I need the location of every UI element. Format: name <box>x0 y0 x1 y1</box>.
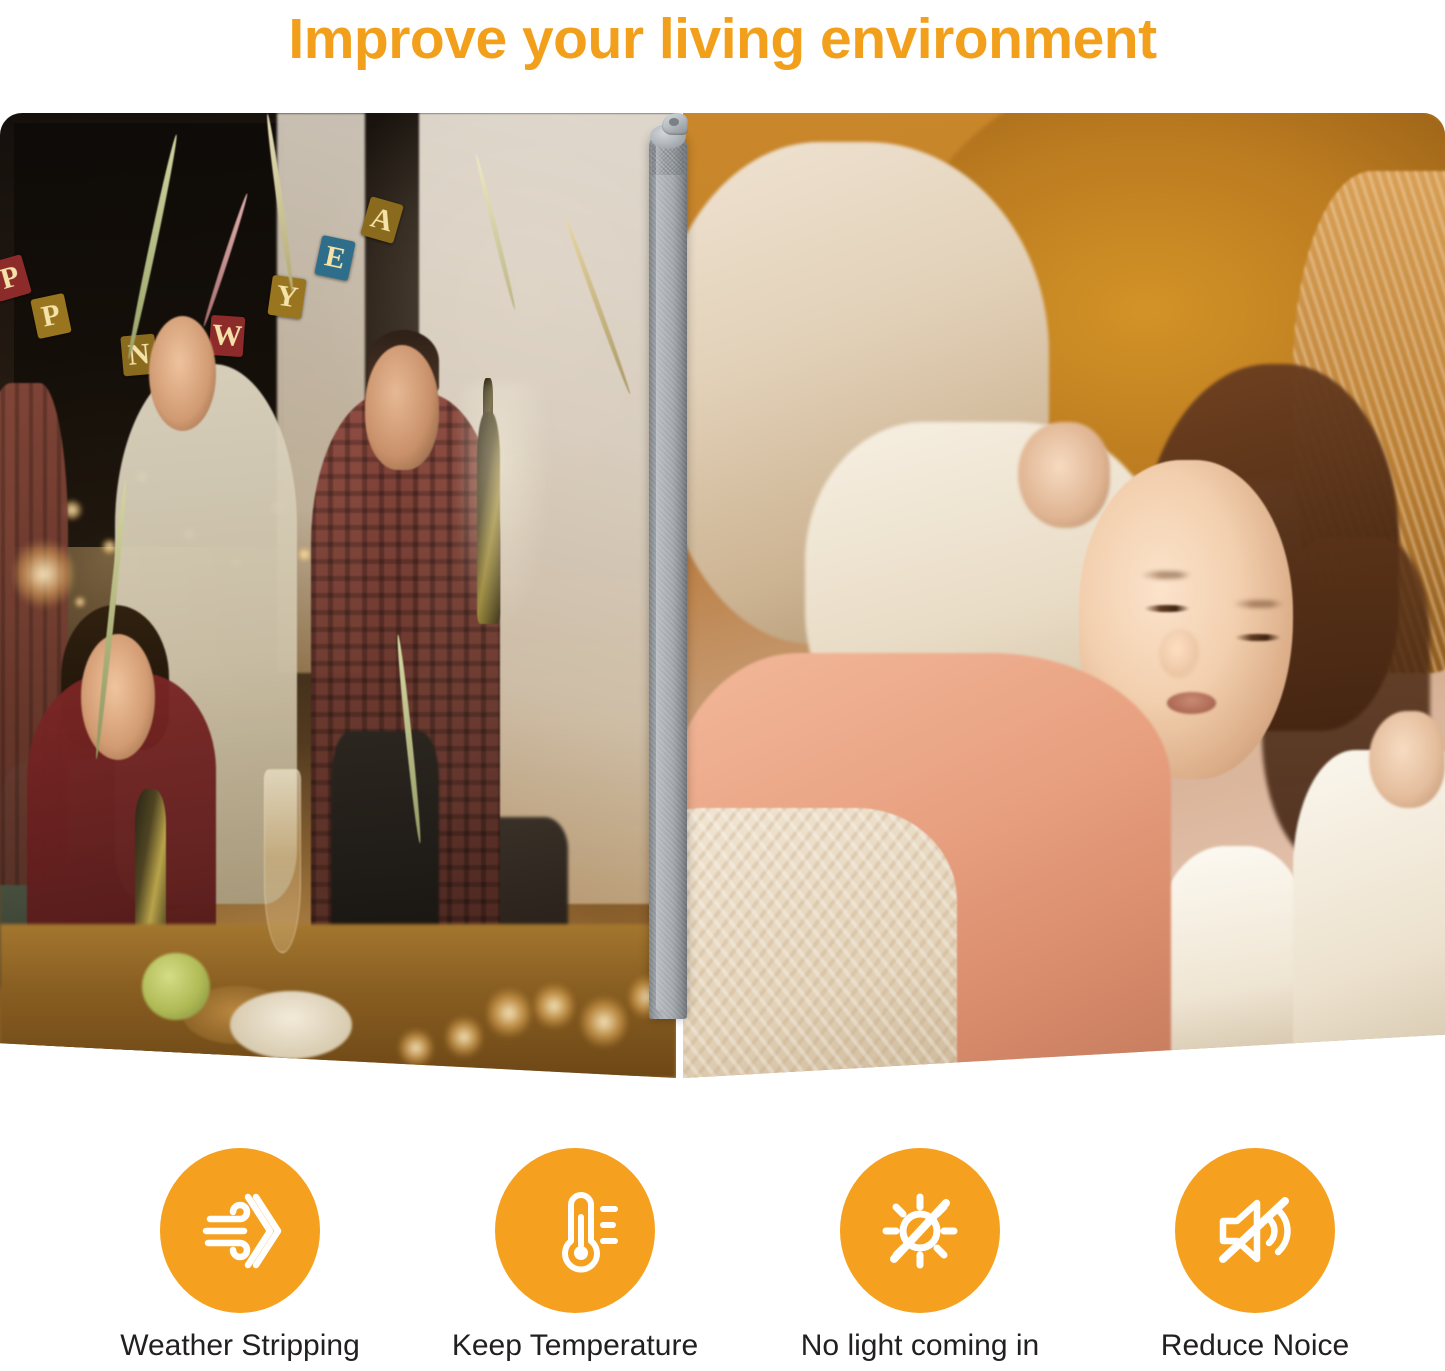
party-person-head <box>365 345 439 470</box>
child-sleeping-photo <box>683 113 1445 1078</box>
product-feature-page: Improve your living environment <box>0 0 1445 1371</box>
feature-list: Weather Stripping Keep Temperature <box>0 1148 1445 1371</box>
feature-reduce-noise: Reduce Noice <box>1130 1148 1380 1363</box>
wind-arrow-icon <box>160 1148 320 1313</box>
candle-glow <box>534 982 574 1030</box>
candle-glow <box>399 1028 433 1068</box>
food-plate <box>230 991 352 1059</box>
hero-split-image: P P N E W Y E A <box>0 113 1445 1083</box>
sun-slash-icon <box>840 1148 1000 1313</box>
child-hand <box>1018 422 1109 528</box>
candle-glow <box>487 987 531 1039</box>
candle-glow <box>446 1015 482 1059</box>
feature-label: Reduce Noice <box>1161 1329 1349 1363</box>
party-person-head <box>81 634 155 759</box>
feature-no-light: No light coming in <box>795 1148 1045 1363</box>
banner-letter: Y <box>268 275 307 319</box>
seal-strip-highlight <box>656 139 664 1011</box>
party-table <box>0 924 676 1078</box>
champagne-spray <box>460 383 636 827</box>
feature-label: Weather Stripping <box>120 1329 360 1363</box>
feature-weather-stripping: Weather Stripping <box>115 1148 365 1363</box>
page-title: Improve your living environment <box>0 0 1445 78</box>
grapes <box>142 953 210 1021</box>
party-photo-content: P P N E W Y E A <box>0 113 676 1078</box>
speaker-mute-icon <box>1175 1148 1335 1313</box>
feature-label: Keep Temperature <box>452 1329 698 1363</box>
bokeh-light <box>74 596 86 608</box>
child-mouth <box>1167 692 1216 714</box>
party-celebration-photo: P P N E W Y E A <box>0 113 676 1078</box>
seal-strip-body <box>649 131 687 1019</box>
feature-label: No light coming in <box>801 1329 1039 1363</box>
seal-strip-hook-hole <box>669 118 679 126</box>
party-person-head <box>149 316 217 432</box>
thermometer-icon <box>495 1148 655 1313</box>
candle-glow <box>14 538 74 610</box>
child-collar <box>1155 846 1307 1058</box>
sleep-photo-content <box>683 113 1445 1078</box>
child-hand <box>1369 711 1445 808</box>
champagne-flute <box>264 769 302 952</box>
banner-letter: W <box>208 315 245 357</box>
knit-blanket <box>683 808 957 1078</box>
feature-keep-temperature: Keep Temperature <box>450 1148 700 1363</box>
weather-seal-strip <box>649 113 687 1019</box>
